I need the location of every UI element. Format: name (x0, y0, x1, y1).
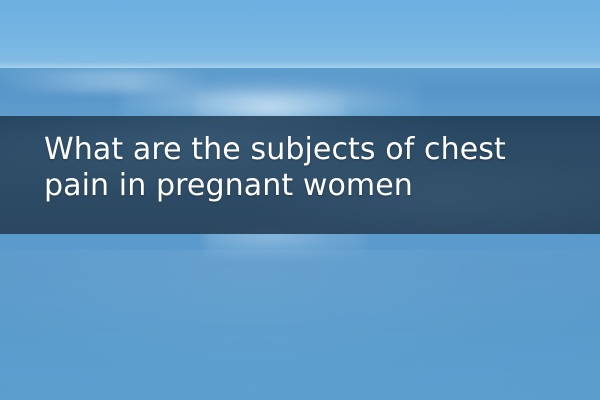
caption-title: What are the subjects of chest pain in p… (44, 132, 548, 204)
water-vignette (0, 280, 600, 400)
sky-region (0, 0, 600, 69)
image-canvas: What are the subjects of chest pain in p… (0, 0, 600, 400)
